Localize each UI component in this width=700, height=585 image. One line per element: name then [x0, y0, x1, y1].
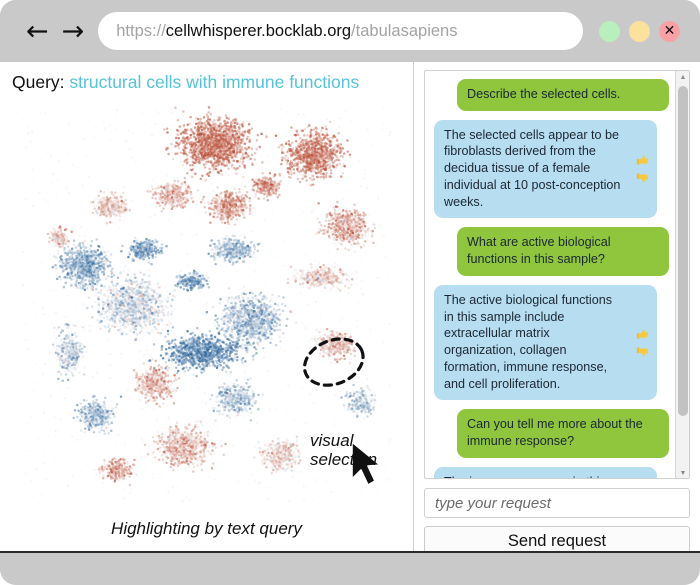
back-arrow-icon[interactable]: ← [26, 18, 49, 45]
plot-caption: Highlighting by text query [0, 519, 413, 539]
chat-message-user: Can you tell me more about the immune re… [457, 409, 669, 457]
chat-message-assistant: The active biological functions in this … [434, 285, 657, 400]
url-path: /tabulasapiens [351, 22, 457, 41]
window-controls: ✕ [599, 21, 680, 42]
url-host: cellwhisperer.bocklab.org [166, 22, 351, 41]
maximize-button[interactable] [629, 21, 650, 42]
chat-message-text: Describe the selected cells. [467, 87, 620, 101]
thumbs-down-icon[interactable] [635, 171, 650, 186]
navigation-controls: ← → [26, 18, 84, 45]
chat-message-text: The active biological functions in this … [444, 293, 612, 391]
chat-scrollbar[interactable]: ▲ ▼ [675, 71, 689, 479]
chat-message-text: The selected cells appear to be fibrobla… [444, 128, 620, 209]
minimize-button[interactable] [599, 21, 620, 42]
chat-message-assistant: The immune response in this sample appea… [434, 467, 657, 479]
thumbs-up-icon[interactable] [635, 153, 650, 168]
selection-annotation: visual selection [310, 431, 377, 469]
close-icon: ✕ [664, 24, 676, 38]
thumbs-down-icon[interactable] [635, 344, 650, 359]
url-scheme: https:// [116, 22, 166, 41]
browser-window: ← → https://cellwhisperer.bocklab.org/ta… [0, 0, 700, 585]
query-value[interactable]: structural cells with immune functions [69, 72, 359, 92]
chat-message-text: Can you tell me more about the immune re… [467, 417, 643, 448]
chat-history-box: Describe the selected cells.The selected… [424, 70, 690, 479]
chat-message-text: What are active biological functions in … [467, 235, 611, 266]
chat-message-user: What are active biological functions in … [457, 227, 669, 275]
chat-message-user: Describe the selected cells. [457, 79, 669, 111]
browser-titlebar: ← → https://cellwhisperer.bocklab.org/ta… [0, 0, 700, 62]
scroll-up-button[interactable]: ▲ [676, 71, 690, 84]
page-content: Query: structural cells with immune func… [0, 62, 700, 551]
query-line: Query: structural cells with immune func… [12, 72, 359, 93]
thumbs-up-icon[interactable] [635, 326, 650, 341]
selection-annotation-line1: visual [310, 431, 377, 450]
request-input[interactable] [424, 488, 690, 518]
selection-annotation-line2: selection [310, 450, 377, 469]
scrollbar-thumb[interactable] [678, 86, 688, 416]
chat-message-list: Describe the selected cells.The selected… [425, 71, 677, 479]
query-label: Query: [12, 72, 65, 92]
chat-message-text: The immune response in this sample appea… [444, 475, 621, 479]
close-button[interactable]: ✕ [659, 21, 680, 42]
address-bar[interactable]: https://cellwhisperer.bocklab.org/tabula… [98, 12, 583, 50]
forward-arrow-icon[interactable]: → [62, 18, 85, 45]
lasso-selection-path[interactable] [298, 331, 370, 394]
scroll-down-button[interactable]: ▼ [676, 467, 690, 479]
chat-panel: Describe the selected cells.The selected… [414, 62, 700, 551]
window-bottom-frame [0, 551, 700, 585]
feedback-controls [635, 326, 650, 359]
umap-panel: Query: structural cells with immune func… [0, 62, 413, 551]
chat-message-assistant: The selected cells appear to be fibrobla… [434, 120, 657, 219]
feedback-controls [635, 153, 650, 186]
